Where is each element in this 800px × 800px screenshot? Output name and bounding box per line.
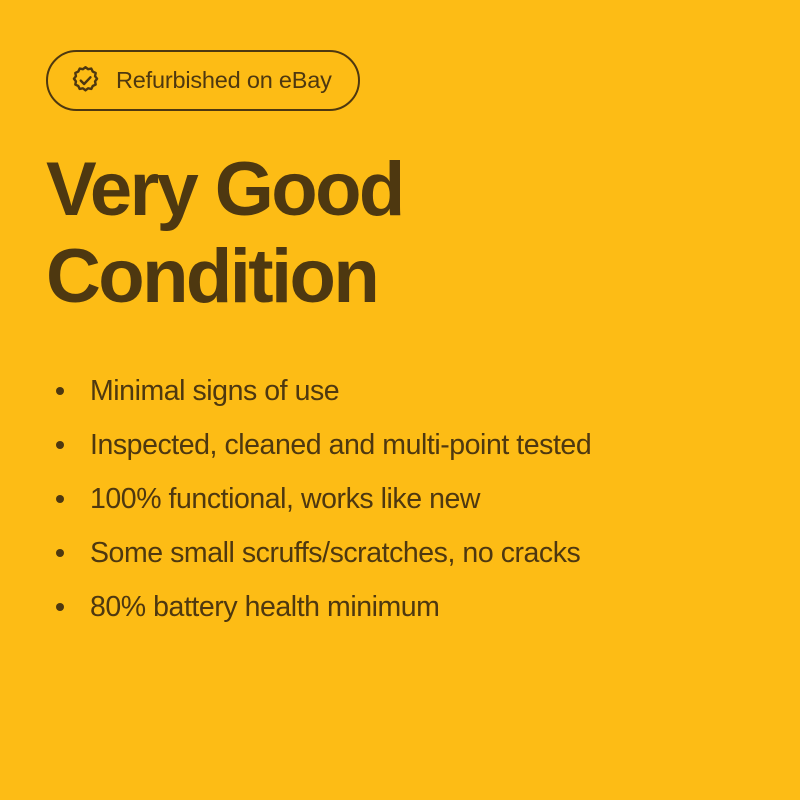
list-item-label: Some small scruffs/scratches, no cracks: [90, 537, 580, 570]
verified-seal-check-icon: [70, 65, 101, 96]
list-item-label: Inspected, cleaned and multi-point teste…: [90, 429, 591, 462]
list-item: 80% battery health minimum: [46, 580, 766, 634]
refurbished-badge[interactable]: Refurbished on eBay: [46, 50, 360, 111]
page-title: Very Good Condition: [46, 146, 686, 320]
list-item-label: Minimal signs of use: [90, 375, 339, 408]
page-title-line-2: Condition: [46, 233, 686, 320]
condition-feature-list: Minimal signs of use Inspected, cleaned …: [46, 364, 766, 634]
list-item-label: 100% functional, works like new: [90, 483, 480, 516]
list-item: 100% functional, works like new: [46, 472, 766, 526]
list-item: Some small scruffs/scratches, no cracks: [46, 526, 766, 580]
page-title-line-1: Very Good: [46, 146, 686, 233]
refurbished-badge-label: Refurbished on eBay: [116, 69, 332, 93]
refurbished-condition-card: Refurbished on eBay Very Good Condition …: [0, 0, 800, 800]
list-item: Inspected, cleaned and multi-point teste…: [46, 418, 766, 472]
list-item-label: 80% battery health minimum: [90, 591, 439, 624]
list-item: Minimal signs of use: [46, 364, 766, 418]
